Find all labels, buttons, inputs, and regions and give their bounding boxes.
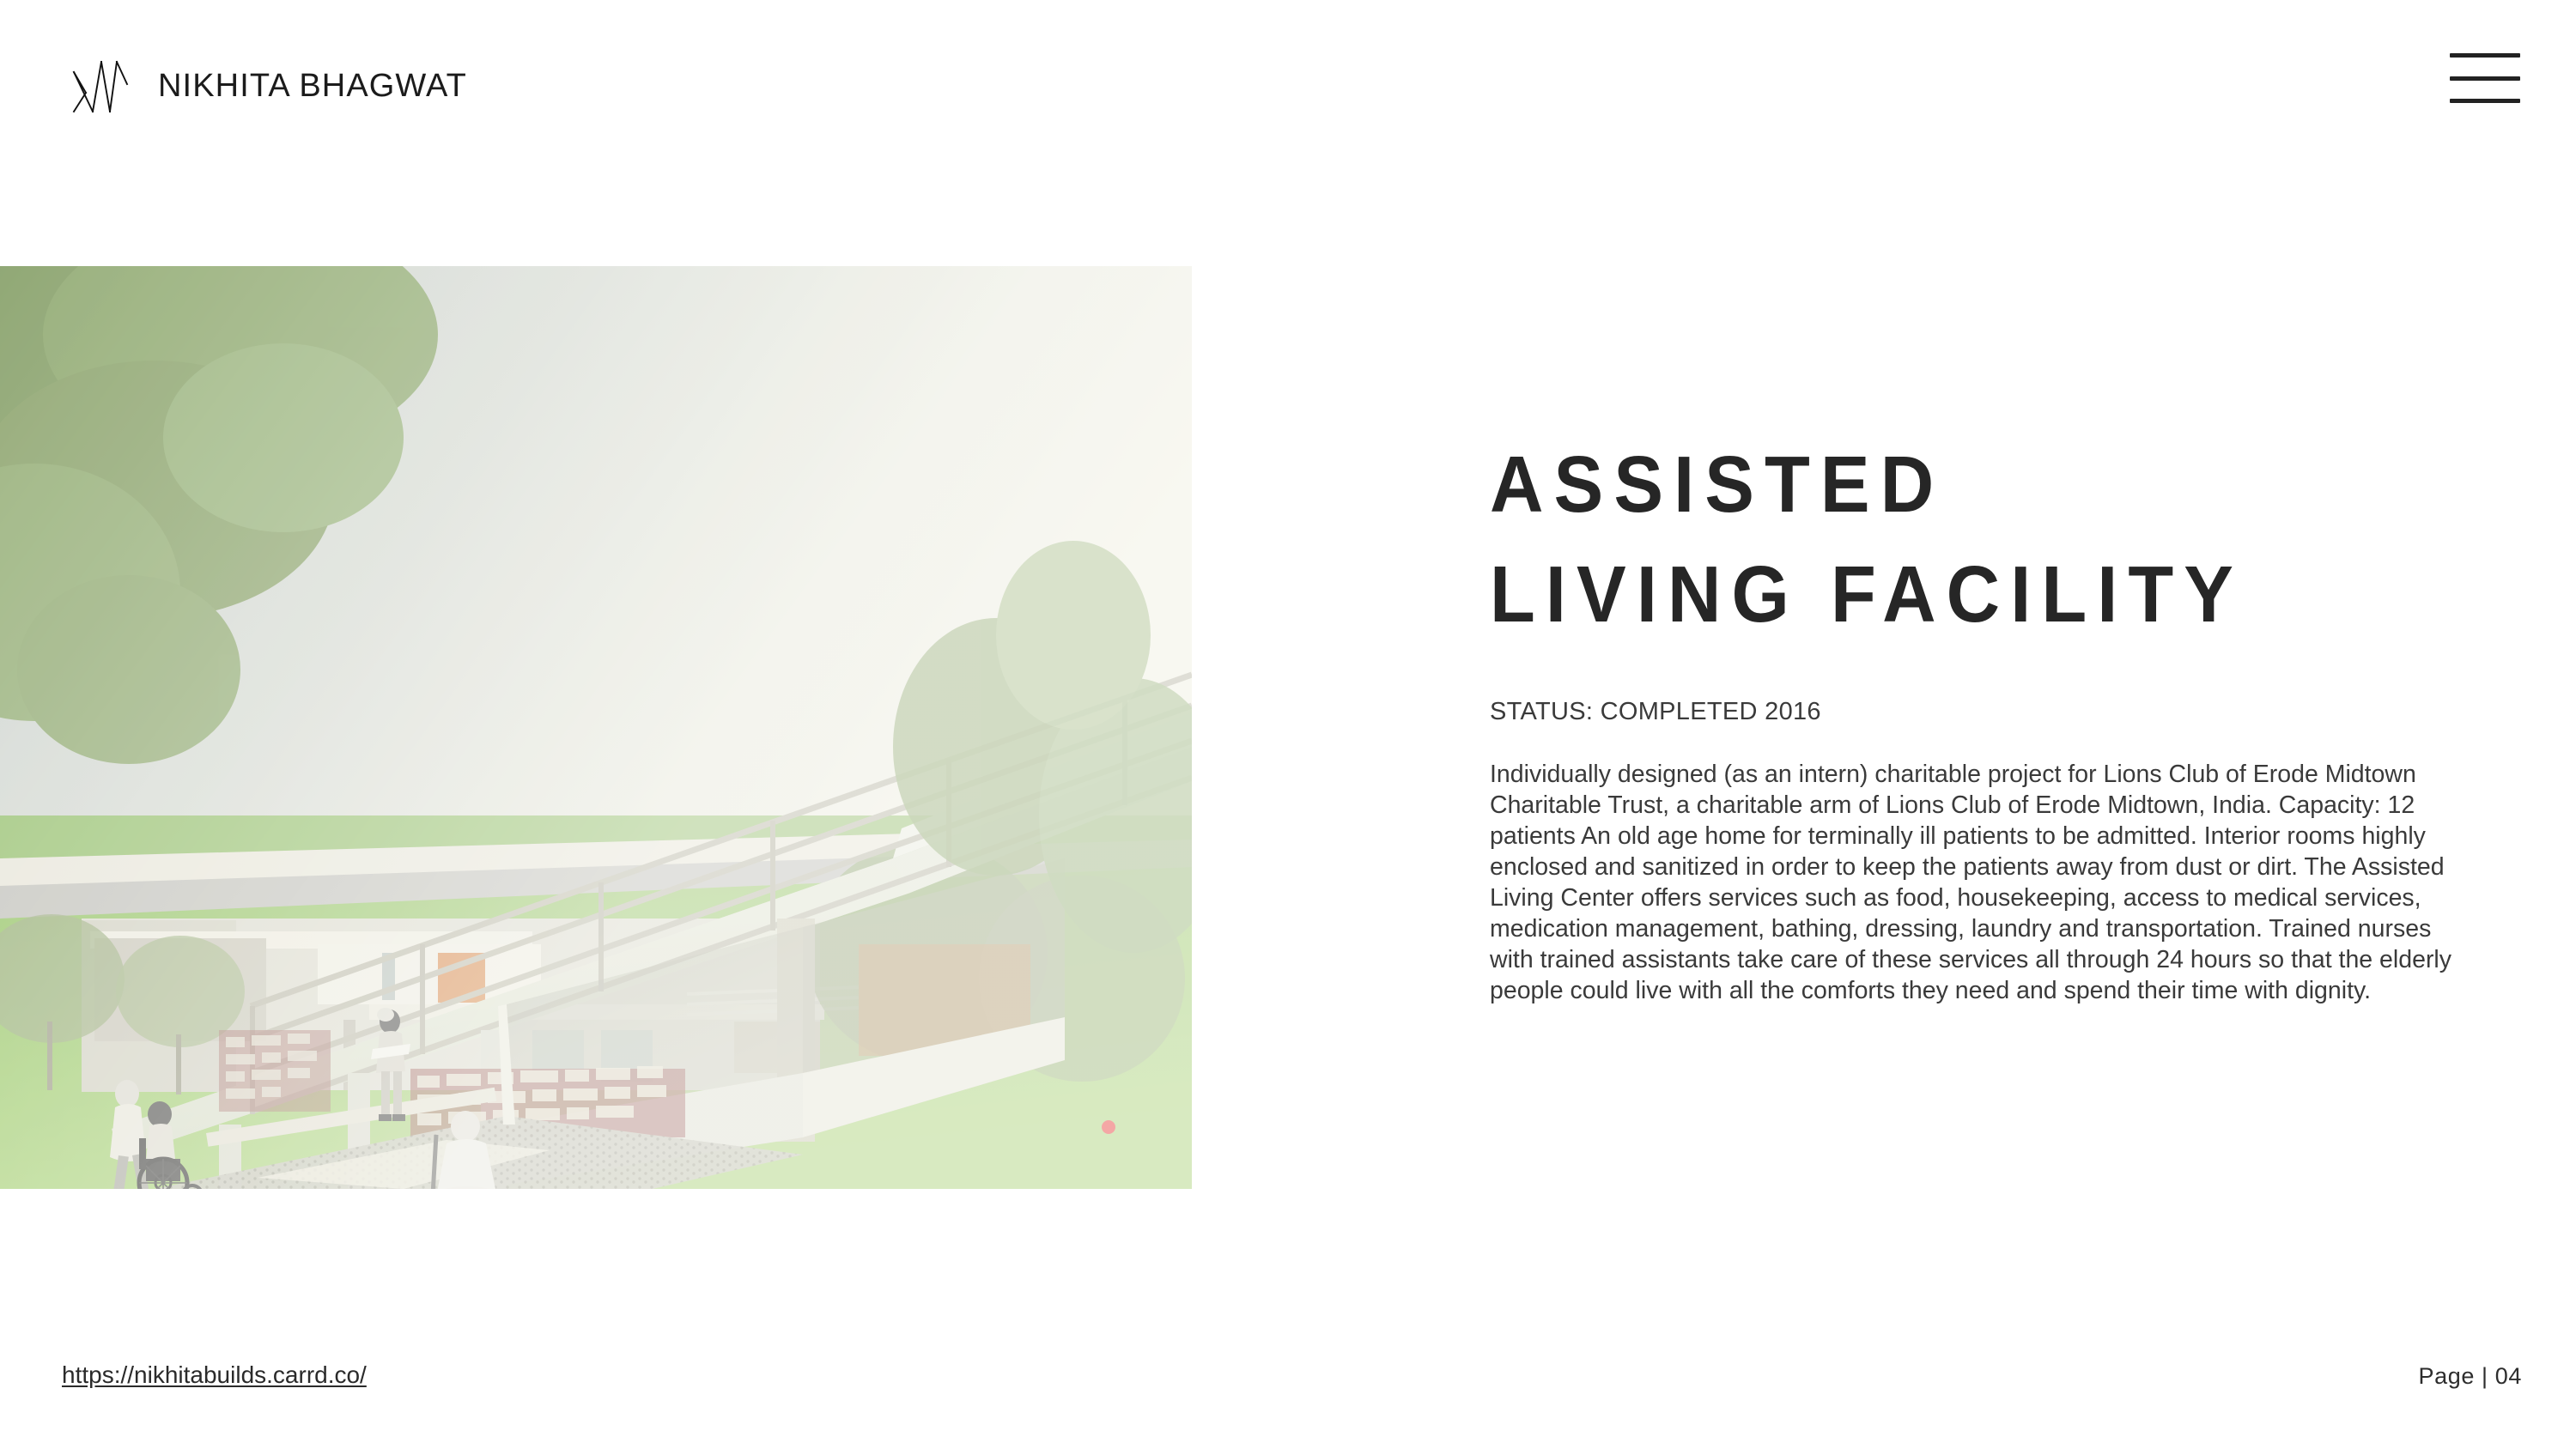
portfolio-url-link[interactable]: https://nikhitabuilds.carrd.co/ (62, 1361, 367, 1389)
project-description: Individually designed (as an intern) cha… (1490, 759, 2460, 1006)
portfolio-slide: NIKHITA BHAGWAT (0, 0, 2576, 1449)
title-line-2: LIVING FACILITY (1490, 549, 2244, 639)
status-badge: STATUS: COMPLETED 2016 (1490, 698, 2469, 726)
page-title: ASSISTEDLIVING FACILITY (1490, 429, 2400, 650)
brand-name: NIKHITA BHAGWAT (158, 68, 467, 105)
wash-overlay (0, 266, 1192, 1189)
menu-bar-middle (2450, 76, 2520, 81)
menu-bar-bottom (2450, 99, 2520, 103)
project-render-image (0, 266, 1192, 1189)
title-line-1: ASSISTED (1490, 440, 1944, 529)
project-text-column: ASSISTEDLIVING FACILITY STATUS: COMPLETE… (1490, 429, 2469, 1006)
menu-bar-top (2450, 53, 2520, 58)
hamburger-menu-icon[interactable] (2450, 53, 2520, 103)
page-number: Page | 04 (2418, 1363, 2522, 1390)
description-text: Individually designed (as an intern) cha… (1490, 759, 2460, 1006)
brand-logo-group[interactable]: NIKHITA BHAGWAT (67, 53, 467, 118)
render-illustration (0, 266, 1192, 1189)
page-header: NIKHITA BHAGWAT (0, 0, 2576, 172)
zigzag-monogram-icon (67, 53, 132, 118)
